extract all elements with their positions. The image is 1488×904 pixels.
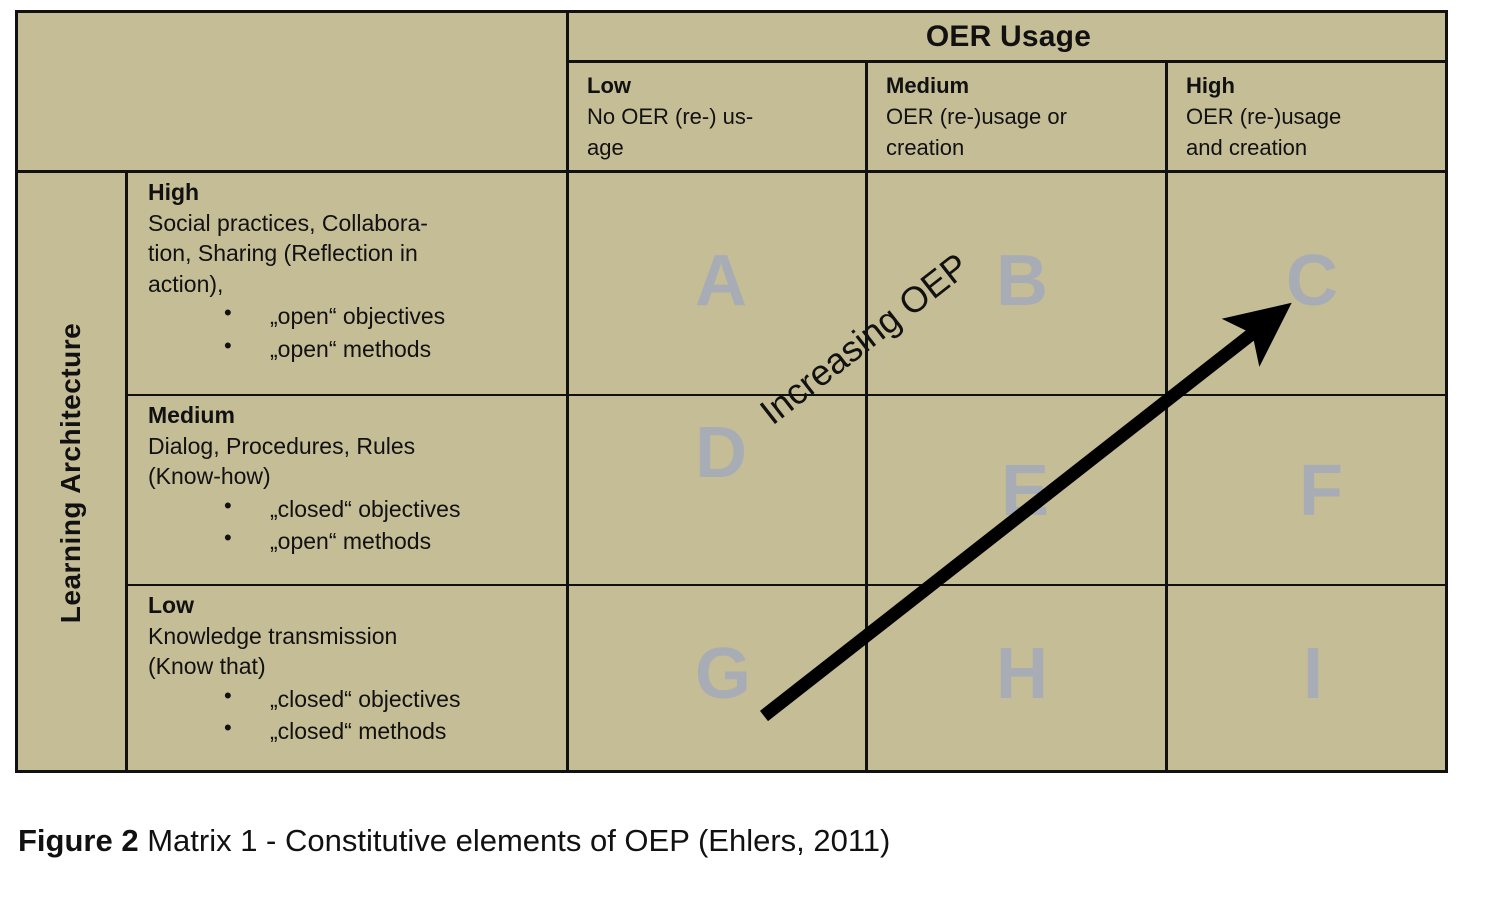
row-header-high-line-2: tion, Sharing (Reflection in (148, 238, 560, 269)
row-header-medium-bullets: „closed“ objectives „open“ methods (148, 494, 560, 557)
row-header-medium-line-2: (Know-how) (148, 461, 560, 492)
bullet-item: „open“ objectives (224, 301, 560, 332)
bullet-item: „open“ methods (224, 334, 560, 365)
matrix-cell-g: G (695, 638, 751, 710)
figure-caption-label: Figure 2 (18, 823, 139, 858)
row-header-high-line-3: action), (148, 269, 560, 300)
column-header-high: High OER (re-)usage and creation (1168, 63, 1448, 170)
column-axis-title: OER Usage (569, 13, 1448, 60)
figure-caption-text: Matrix 1 - Constitutive elements of OEP … (139, 823, 891, 858)
row-header-low-bullets: „closed“ objectives „closed“ methods (148, 684, 560, 747)
bullet-item: „closed“ objectives (224, 494, 560, 525)
column-header-low: Low No OER (re-) us- age (569, 63, 865, 170)
row-header-low-line-1: Knowledge transmission (148, 621, 560, 652)
column-header-high-line-1: OER (re-)usage (1186, 101, 1448, 132)
row-header-medium-line-1: Dialog, Procedures, Rules (148, 431, 560, 462)
row-header-medium: Medium Dialog, Procedures, Rules (Know-h… (128, 396, 566, 584)
oep-matrix-table: OER Usage Low No OER (re-) us- age Mediu… (15, 10, 1448, 773)
row-header-low-line-2: (Know that) (148, 651, 560, 682)
matrix-cell-f: F (1299, 455, 1343, 527)
column-header-medium-level: Medium (886, 70, 1165, 101)
matrix-cell-e: E (1001, 455, 1049, 527)
matrix-cell-c: C (1286, 245, 1338, 317)
matrix-cell-h: H (996, 638, 1048, 710)
bullet-item: „closed“ methods (224, 716, 560, 747)
column-header-low-level: Low (587, 70, 865, 101)
matrix-cell-b: B (996, 245, 1048, 317)
row-axis-title-text: Learning Architecture (56, 323, 88, 623)
column-header-low-line-2: age (587, 132, 865, 163)
row-header-high-line-1: Social practices, Collabora- (148, 208, 560, 239)
column-header-high-line-2: and creation (1186, 132, 1448, 163)
bullet-item: „closed“ objectives (224, 684, 560, 715)
matrix-cell-d: D (695, 417, 747, 489)
bullet-item: „open“ methods (224, 526, 560, 557)
matrix-cell-i: I (1303, 638, 1323, 710)
row-header-low-level: Low (148, 590, 560, 621)
column-header-low-line-1: No OER (re-) us- (587, 101, 865, 132)
row-header-low: Low Knowledge transmission (Know that) „… (128, 586, 566, 773)
figure-caption: Figure 2 Matrix 1 - Constitutive element… (18, 823, 890, 859)
row-header-high-bullets: „open“ objectives „open“ methods (148, 301, 560, 364)
figure-container: OER Usage Low No OER (re-) us- age Mediu… (0, 0, 1488, 904)
row-header-medium-level: Medium (148, 400, 560, 431)
row-axis-title: Learning Architecture (18, 173, 125, 773)
column-header-medium: Medium OER (re-)usage or creation (868, 63, 1165, 170)
column-header-medium-line-2: creation (886, 132, 1165, 163)
row-header-high: High Social practices, Collabora- tion, … (128, 173, 566, 394)
row-header-high-level: High (148, 177, 560, 208)
column-header-high-level: High (1186, 70, 1448, 101)
matrix-cell-a: A (695, 245, 747, 317)
column-header-medium-line-1: OER (re-)usage or (886, 101, 1165, 132)
